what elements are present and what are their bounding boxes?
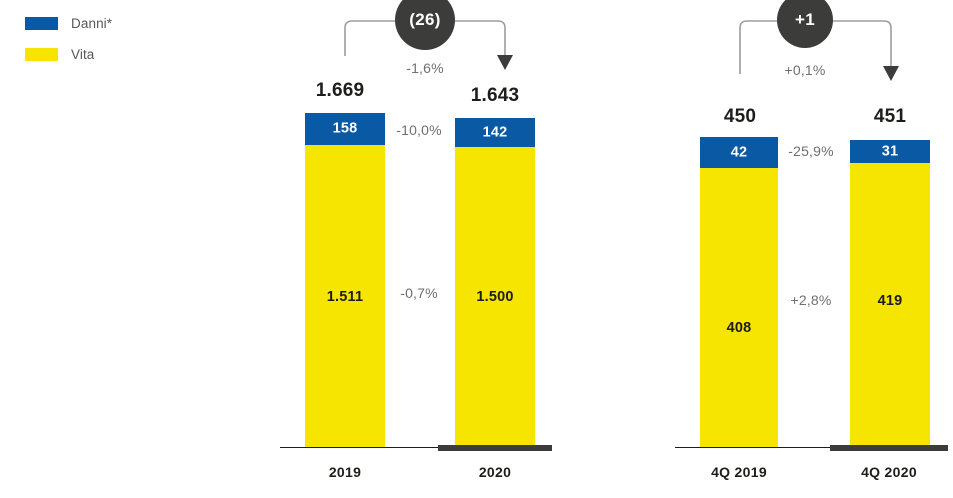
bar-value-danni-4q2020: 31 <box>850 143 930 159</box>
badge-quarter-value: +1 <box>795 10 815 30</box>
bar-segment-vita-4q2020[interactable]: 419 <box>850 163 930 447</box>
legend-swatch-danni <box>25 17 58 30</box>
bar-2019[interactable]: 158 1.511 <box>305 113 385 447</box>
bar-segment-vita-2019[interactable]: 1.511 <box>305 145 385 447</box>
bar-4q2020[interactable]: 31 419 <box>850 140 930 447</box>
category-label-4q2019: 4Q 2019 <box>697 464 781 480</box>
bar-value-danni-2020: 142 <box>455 124 535 140</box>
legend-label-vita: Vita <box>71 47 94 62</box>
total-label-4q2019: 450 <box>695 106 785 128</box>
category-label-2019: 2019 <box>305 464 385 480</box>
badge-annual-value: (26) <box>409 10 440 30</box>
axis-baseline-thin-annual <box>280 447 438 449</box>
bar-4q2019[interactable]: 42 408 <box>700 137 778 447</box>
bar-value-danni-2019: 158 <box>305 121 385 137</box>
chart-panel-quarter: +1 +0,1% 450 451 42 408 31 419 -25,9% +2… <box>665 0 953 498</box>
bar-segment-vita-2020[interactable]: 1.500 <box>455 147 535 447</box>
legend-label-danni: Danni* <box>71 16 112 31</box>
bar-segment-vita-4q2019[interactable]: 408 <box>700 168 778 447</box>
badge-pct-quarter: +0,1% <box>765 62 845 78</box>
delta-danni-annual: -10,0% <box>383 122 455 138</box>
legend-swatch-vita <box>25 48 58 61</box>
bar-value-vita-4q2020: 419 <box>850 293 930 309</box>
badge-pct-annual: -1,6% <box>385 60 465 76</box>
chart-legend: Danni* Vita <box>25 12 185 74</box>
axis-baseline-thin-quarter <box>675 447 830 449</box>
bar-segment-danni-2020[interactable]: 142 <box>455 118 535 147</box>
bar-value-danni-4q2019: 42 <box>700 144 778 160</box>
bar-value-vita-2019: 1.511 <box>305 289 385 305</box>
category-label-2020: 2020 <box>455 464 535 480</box>
bar-segment-danni-2019[interactable]: 158 <box>305 113 385 145</box>
delta-vita-quarter: +2,8% <box>773 292 849 308</box>
total-label-2019: 1.669 <box>295 80 385 102</box>
axis-baseline-thick-annual <box>438 445 552 451</box>
bar-value-vita-2020: 1.500 <box>455 289 535 305</box>
bar-value-vita-4q2019: 408 <box>700 320 778 336</box>
delta-vita-annual: -0,7% <box>383 285 455 301</box>
legend-item-danni: Danni* <box>25 12 185 34</box>
bar-segment-danni-4q2020[interactable]: 31 <box>850 140 930 163</box>
total-label-2020: 1.643 <box>450 85 540 107</box>
bar-segment-danni-4q2019[interactable]: 42 <box>700 137 778 168</box>
axis-baseline-thick-quarter <box>830 445 948 451</box>
category-label-4q2020: 4Q 2020 <box>847 464 931 480</box>
chart-panel-annual: (26) -1,6% 1.669 1.643 158 1.511 142 1.5… <box>275 0 575 498</box>
total-label-4q2020: 451 <box>845 106 935 128</box>
bar-2020[interactable]: 142 1.500 <box>455 118 535 447</box>
delta-danni-quarter: -25,9% <box>773 143 849 159</box>
legend-item-vita: Vita <box>25 43 185 65</box>
